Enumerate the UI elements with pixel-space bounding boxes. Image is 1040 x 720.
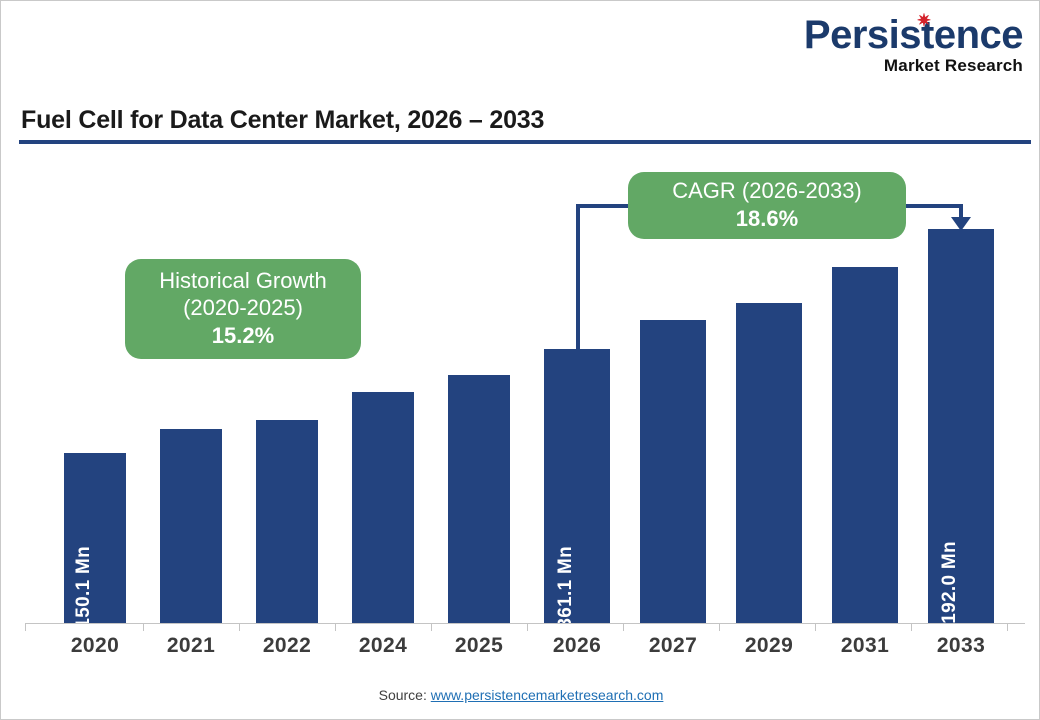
x-tick-label-2033: 2033 <box>911 634 1011 658</box>
x-tick-label-2024: 2024 <box>333 634 433 658</box>
x-tick-label-2022: 2022 <box>237 634 337 658</box>
bar-2024[interactable] <box>352 392 414 623</box>
bar-chart: US$ 150.1 Mn US$ 361.1 Mn US$ 1192.0 Mn … <box>1 1 1040 720</box>
x-axis-tick <box>527 623 528 631</box>
historical-growth-value: 15.2% <box>212 322 274 351</box>
source-line: Source: www.persistencemarketresearch.co… <box>1 687 1040 703</box>
x-axis-tick <box>335 623 336 631</box>
x-tick-label-2020: 2020 <box>45 634 145 658</box>
source-link[interactable]: www.persistencemarketresearch.com <box>431 687 664 703</box>
x-axis-line <box>25 623 1025 624</box>
historical-growth-callout: Historical Growth (2020-2025) 15.2% <box>125 259 361 359</box>
bar-2029[interactable] <box>736 303 802 623</box>
x-axis-tick <box>431 623 432 631</box>
x-axis-tick <box>911 623 912 631</box>
bar-2022[interactable] <box>256 420 318 623</box>
bar-2033[interactable]: US$ 1192.0 Mn <box>928 229 994 623</box>
arrow-down-icon <box>951 217 971 231</box>
historical-growth-title: Historical Growth <box>159 268 326 295</box>
x-axis-tick <box>623 623 624 631</box>
x-tick-label-2029: 2029 <box>719 634 819 658</box>
x-axis-tick <box>1007 623 1008 631</box>
x-axis-tick <box>815 623 816 631</box>
x-tick-label-2021: 2021 <box>141 634 241 658</box>
historical-growth-period: (2020-2025) <box>183 295 303 322</box>
cagr-connector-vertical-left <box>576 204 580 351</box>
bar-2025[interactable] <box>448 375 510 623</box>
cagr-value: 18.6% <box>736 205 798 234</box>
x-axis-tick <box>25 623 26 631</box>
cagr-callout: CAGR (2026-2033) 18.6% <box>628 172 906 239</box>
x-axis-tick <box>719 623 720 631</box>
x-axis-tick <box>143 623 144 631</box>
bar-2021[interactable] <box>160 429 222 623</box>
x-tick-label-2026: 2026 <box>527 634 627 658</box>
x-tick-label-2027: 2027 <box>623 634 723 658</box>
bar-2027[interactable] <box>640 320 706 623</box>
x-tick-label-2025: 2025 <box>429 634 529 658</box>
x-axis-tick <box>239 623 240 631</box>
cagr-connector-horizontal-left <box>576 204 634 208</box>
source-prefix: Source: <box>379 687 431 703</box>
bar-2020[interactable]: US$ 150.1 Mn <box>64 453 126 623</box>
bar-2026[interactable]: US$ 361.1 Mn <box>544 349 610 623</box>
cagr-connector-horizontal-right <box>901 204 963 208</box>
bar-2031[interactable] <box>832 267 898 623</box>
cagr-title: CAGR (2026-2033) <box>672 178 862 205</box>
x-tick-label-2031: 2031 <box>815 634 915 658</box>
chart-page: Persistence ✷ Market Research Fuel Cell … <box>0 0 1040 720</box>
